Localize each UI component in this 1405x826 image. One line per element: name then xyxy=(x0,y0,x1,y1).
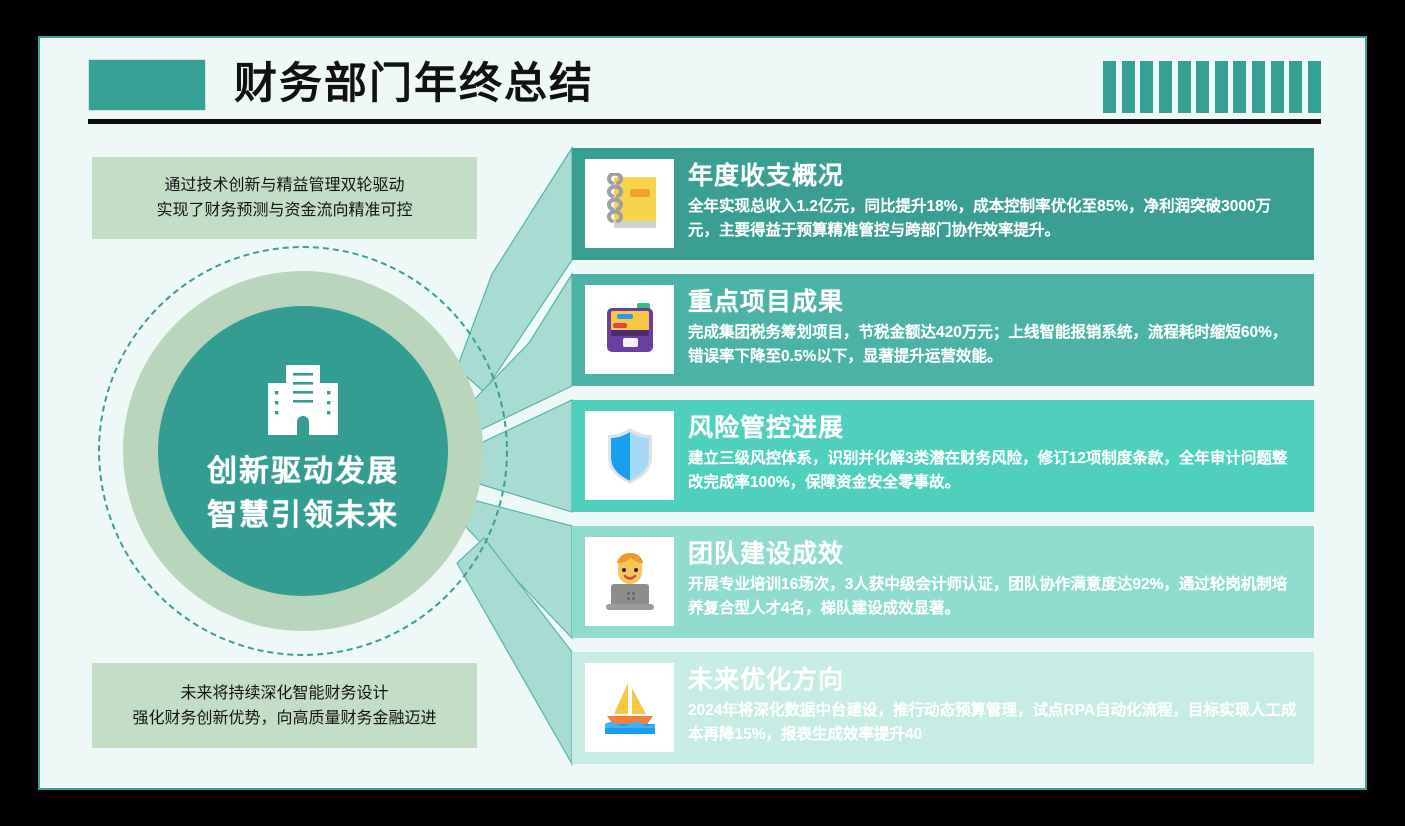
card-icon-wrap xyxy=(585,411,674,500)
card-title: 未来优化方向 xyxy=(688,664,1298,696)
note-bottom-line2: 强化财务创新优势，向高质量财务金融迈进 xyxy=(132,706,436,731)
card-desc: 完成集团税务筹划项目，节税金额达420万元；上线智能报销系统，流程耗时缩短60%… xyxy=(688,321,1298,369)
person-at-laptop-icon xyxy=(598,551,662,613)
decor-bar xyxy=(1308,61,1321,113)
hub-line-1: 创新驱动发展 xyxy=(207,450,399,494)
card-desc: 开展专业培训16场次，3人获中级会计师认证，团队协作满意度达92%，通过轮岗机制… xyxy=(688,573,1298,621)
sailboat-icon xyxy=(597,678,663,738)
slide-canvas: 财务部门年终总结 通过技术创新与精益管理双轮驱动 实现了 xyxy=(38,36,1367,790)
card-title: 年度收支概况 xyxy=(688,160,1298,192)
slide-header: 财务部门年终总结 xyxy=(88,57,1321,135)
content-card-1[interactable]: 年度收支概况 全年实现总收入1.2亿元，同比提升18%，成本控制率优化至85%，… xyxy=(572,148,1314,260)
note-box-bottom: 未来将持续深化智能财务设计 强化财务创新优势，向高质量财务金融迈进 xyxy=(92,663,477,748)
content-card-4[interactable]: 团队建设成效 开展专业培训16场次，3人获中级会计师认证，团队协作满意度达92%… xyxy=(572,526,1314,638)
decor-bar xyxy=(1196,61,1209,113)
card-title: 团队建设成效 xyxy=(688,538,1298,570)
content-card-2[interactable]: 重点项目成果 完成集团税务筹划项目，节税金额达420万元；上线智能报销系统，流程… xyxy=(572,274,1314,386)
header-bar-decoration xyxy=(1103,61,1321,113)
hub-core: 创新驱动发展 智慧引领未来 xyxy=(158,306,448,596)
card-desc: 2024年将深化数据中台建设，推行动态预算管理，试点RPA自动化流程，目标实现人… xyxy=(688,699,1298,747)
card-icon-wrap xyxy=(585,537,674,626)
center-hub: 创新驱动发展 智慧引领未来 xyxy=(95,243,511,659)
card-body: 年度收支概况 全年实现总收入1.2亿元，同比提升18%，成本控制率优化至85%，… xyxy=(688,159,1298,243)
decor-bar xyxy=(1215,61,1228,113)
decor-bar xyxy=(1271,61,1284,113)
decor-bar xyxy=(1178,61,1191,113)
shield-icon xyxy=(601,425,659,487)
card-title: 重点项目成果 xyxy=(688,286,1298,318)
header-divider xyxy=(88,119,1321,124)
note-bottom-line1: 未来将持续深化智能财务设计 xyxy=(180,681,388,706)
decor-bar xyxy=(1252,61,1265,113)
card-icon-wrap xyxy=(585,663,674,752)
card-title: 风险管控进展 xyxy=(688,412,1298,444)
office-building-icon xyxy=(260,365,346,444)
content-card-3[interactable]: 风险管控进展 建立三级风控体系，识别并化解3类潜在财务风险，修订12项制度条款，… xyxy=(572,400,1314,512)
spiral-notebook-icon xyxy=(600,173,660,235)
card-index-box-icon xyxy=(599,300,661,360)
card-icon-wrap xyxy=(585,159,674,248)
note-box-top: 通过技术创新与精益管理双轮驱动 实现了财务预测与资金流向精准可控 xyxy=(92,157,477,239)
note-top-line1: 通过技术创新与精益管理双轮驱动 xyxy=(164,173,404,198)
content-card-5[interactable]: 未来优化方向 2024年将深化数据中台建设，推行动态预算管理，试点RPA自动化流… xyxy=(572,652,1314,764)
title-accent-square xyxy=(88,59,206,111)
page-title: 财务部门年终总结 xyxy=(234,53,594,115)
decor-bar xyxy=(1103,61,1116,113)
card-icon-wrap xyxy=(585,285,674,374)
hub-line-2: 智慧引领未来 xyxy=(207,494,399,538)
card-body: 未来优化方向 2024年将深化数据中台建设，推行动态预算管理，试点RPA自动化流… xyxy=(688,663,1298,747)
card-body: 风险管控进展 建立三级风控体系，识别并化解3类潜在财务风险，修订12项制度条款，… xyxy=(688,411,1298,495)
card-body: 团队建设成效 开展专业培训16场次，3人获中级会计师认证，团队协作满意度达92%… xyxy=(688,537,1298,621)
note-top-line2: 实现了财务预测与资金流向精准可控 xyxy=(156,198,412,223)
decor-bar xyxy=(1159,61,1172,113)
card-desc: 全年实现总收入1.2亿元，同比提升18%，成本控制率优化至85%，净利润突破30… xyxy=(688,195,1298,243)
decor-bar xyxy=(1122,61,1135,113)
decor-bar xyxy=(1233,61,1246,113)
decor-bar xyxy=(1140,61,1153,113)
card-body: 重点项目成果 完成集团税务筹划项目，节税金额达420万元；上线智能报销系统，流程… xyxy=(688,285,1298,369)
card-desc: 建立三级风控体系，识别并化解3类潜在财务风险，修订12项制度条款，全年审计问题整… xyxy=(688,447,1298,495)
decor-bar xyxy=(1289,61,1302,113)
